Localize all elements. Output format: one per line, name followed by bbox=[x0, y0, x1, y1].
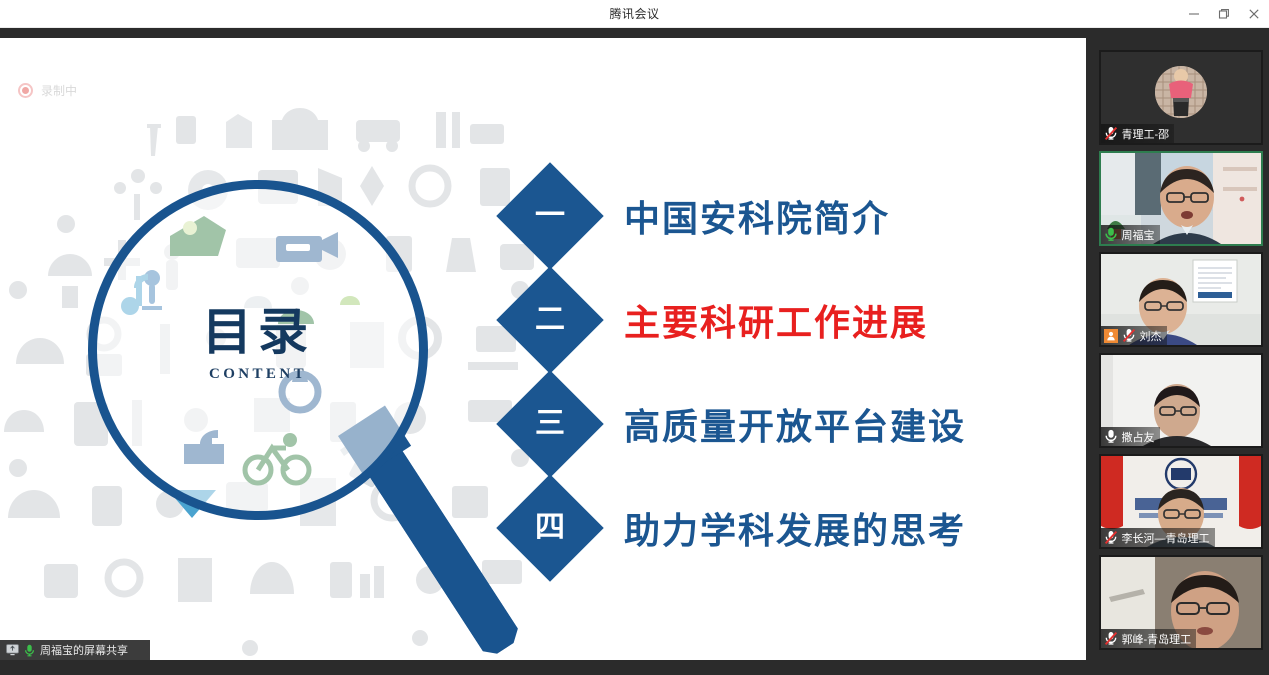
monitor-share-icon bbox=[6, 644, 19, 656]
maximize-button[interactable] bbox=[1209, 0, 1239, 28]
participant-tile[interactable]: 青理工-邵 bbox=[1099, 50, 1263, 145]
microphone-muted-icon bbox=[1122, 328, 1136, 343]
microphone-active-icon bbox=[1104, 227, 1118, 242]
tencent-meeting-window: 腾讯会议 录制中 bbox=[0, 0, 1269, 675]
microphone-icon bbox=[1104, 429, 1118, 444]
participant-namebar: 李长河—青岛理工 bbox=[1101, 528, 1215, 547]
participant-name: 郭峰-青岛理工 bbox=[1122, 631, 1192, 647]
participant-name: 刘杰 bbox=[1140, 328, 1162, 344]
participant-name: 周福宝 bbox=[1122, 227, 1155, 243]
agenda-numeral-badge: 四 bbox=[496, 474, 603, 581]
agenda-text: 主要科研工作进展 bbox=[624, 294, 928, 346]
participant-tile[interactable]: 撒占友 bbox=[1099, 353, 1263, 448]
agenda-item: 三 高质量开放平台建设 bbox=[512, 372, 966, 476]
microphone-icon bbox=[24, 644, 35, 657]
close-button[interactable] bbox=[1239, 0, 1269, 28]
participant-namebar: 刘杰 bbox=[1101, 326, 1167, 345]
agenda-numeral-badge: 三 bbox=[496, 370, 603, 477]
presentation-slide: 目录 CONTENT 一 中国安科院简介 二 主要 bbox=[0, 38, 1086, 660]
share-status-bar[interactable]: 周福宝的屏幕共享 bbox=[0, 640, 150, 660]
recording-label: 录制中 bbox=[41, 82, 77, 99]
agenda-text: 高质量开放平台建设 bbox=[624, 398, 966, 450]
participant-name: 李长河—青岛理工 bbox=[1122, 530, 1210, 546]
participant-filmstrip[interactable]: 青理工-邵 bbox=[1092, 28, 1269, 675]
participant-namebar: 撒占友 bbox=[1101, 427, 1160, 446]
participant-namebar: 青理工-邵 bbox=[1101, 124, 1175, 143]
agenda-text: 助力学科发展的思考 bbox=[624, 502, 966, 554]
agenda-numeral: 三 bbox=[535, 409, 565, 439]
participant-namebar: 郭峰-青岛理工 bbox=[1101, 629, 1197, 648]
share-status-label: 周福宝的屏幕共享 bbox=[40, 642, 128, 658]
agenda-numeral: 一 bbox=[535, 201, 565, 231]
recording-dot-icon bbox=[18, 83, 33, 98]
participant-tile[interactable]: 刘杰 bbox=[1099, 252, 1263, 347]
agenda-numeral: 四 bbox=[535, 513, 565, 543]
agenda-list: 一 中国安科院简介 二 主要科研工作进展 三 高质量开 bbox=[512, 164, 966, 580]
window-titlebar: 腾讯会议 bbox=[0, 0, 1269, 28]
participant-namebar: 周福宝 bbox=[1101, 225, 1160, 244]
minimize-button[interactable] bbox=[1179, 0, 1209, 28]
participant-tile[interactable]: 李长河—青岛理工 bbox=[1099, 454, 1263, 549]
microphone-muted-icon bbox=[1104, 631, 1118, 646]
participant-name: 撒占友 bbox=[1122, 429, 1155, 445]
agenda-item: 四 助力学科发展的思考 bbox=[512, 476, 966, 580]
window-title: 腾讯会议 bbox=[609, 5, 659, 22]
host-badge-icon bbox=[1104, 329, 1118, 343]
recording-indicator: 录制中 bbox=[18, 82, 77, 99]
microphone-muted-icon bbox=[1104, 126, 1118, 141]
microphone-muted-icon bbox=[1104, 530, 1118, 545]
shared-screen-stage[interactable]: 录制中 bbox=[0, 38, 1086, 660]
agenda-item: 二 主要科研工作进展 bbox=[512, 268, 966, 372]
slide-center-subtitle: CONTENT bbox=[110, 366, 406, 383]
participant-tile[interactable]: 郭峰-青岛理工 bbox=[1099, 555, 1263, 650]
agenda-numeral-badge: 一 bbox=[496, 162, 603, 269]
slide-center-label: 目录 CONTENT bbox=[110, 306, 406, 383]
slide-center-title: 目录 bbox=[110, 306, 406, 359]
window-controls bbox=[1179, 0, 1269, 28]
participant-name: 青理工-邵 bbox=[1122, 126, 1170, 142]
agenda-numeral-badge: 二 bbox=[496, 266, 603, 373]
participant-tile[interactable]: 周福宝 bbox=[1099, 151, 1263, 246]
agenda-item: 一 中国安科院简介 bbox=[512, 164, 966, 268]
agenda-text: 中国安科院简介 bbox=[624, 190, 890, 242]
agenda-numeral: 二 bbox=[535, 305, 565, 335]
meeting-body: 录制中 bbox=[0, 28, 1269, 675]
